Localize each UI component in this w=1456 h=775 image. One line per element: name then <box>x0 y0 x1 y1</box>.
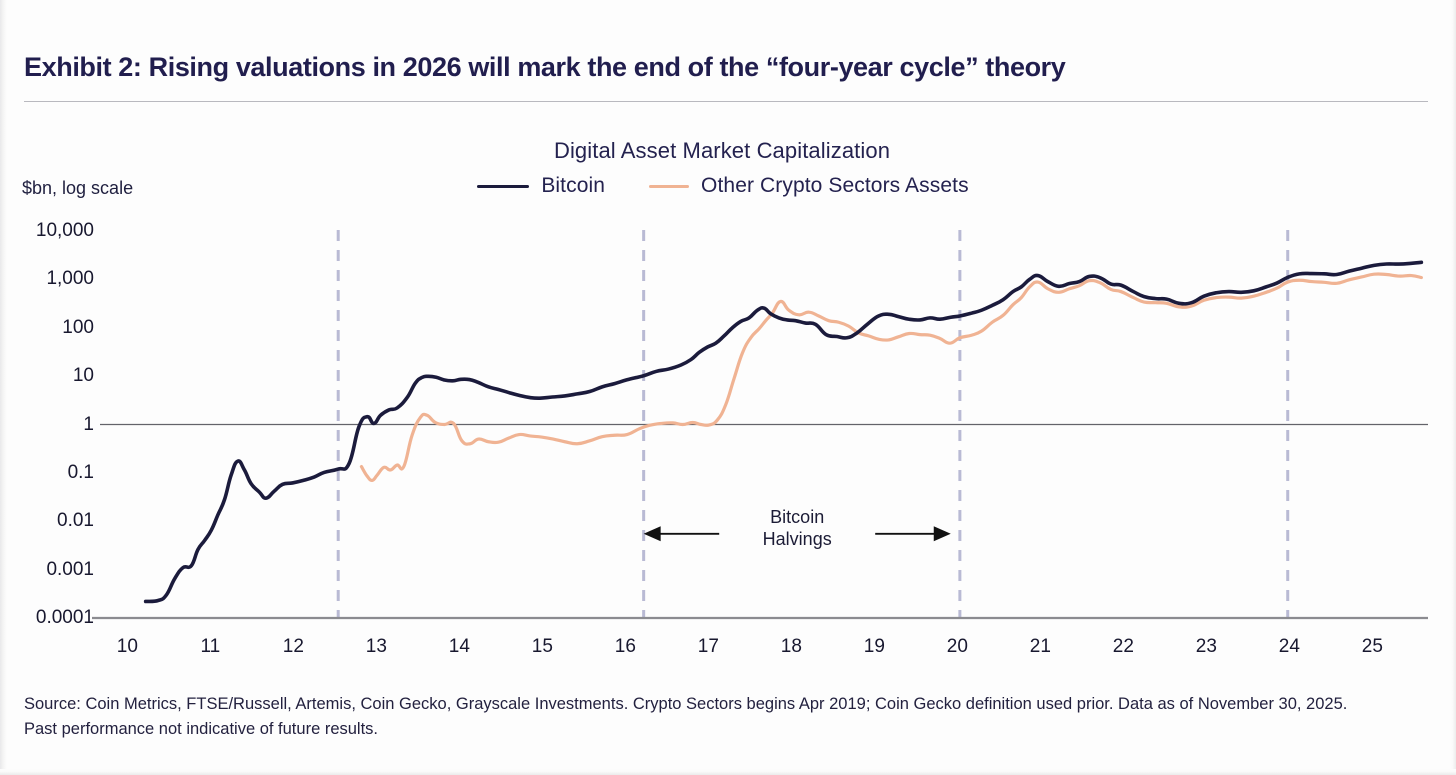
exhibit-title: Exhibit 2: Rising valuations in 2026 wil… <box>24 52 1404 83</box>
source-line-1: Source: Coin Metrics, FTSE/Russell, Arte… <box>24 692 1424 717</box>
x-axis-tick-14: 24 <box>1279 636 1300 658</box>
x-axis-tick-10: 20 <box>947 636 968 658</box>
x-axis-tick-8: 18 <box>781 636 802 658</box>
x-axis-tick-13: 23 <box>1196 636 1217 658</box>
exhibit-page: Exhibit 2: Rising valuations in 2026 wil… <box>0 0 1456 775</box>
x-axis-tick-9: 19 <box>864 636 885 658</box>
y-axis-tick-7: 0.001 <box>8 559 94 581</box>
x-axis-tick-2: 12 <box>283 636 304 658</box>
y-axis-tick-1: 1,000 <box>8 268 94 290</box>
y-axis-tick-6: 0.01 <box>8 510 94 532</box>
x-axis-tick-12: 22 <box>1113 636 1134 658</box>
series-line-bitcoin <box>146 262 1422 601</box>
source-note: Source: Coin Metrics, FTSE/Russell, Arte… <box>24 692 1424 742</box>
y-axis-tick-4: 1 <box>8 414 94 436</box>
title-divider <box>24 101 1428 102</box>
chart-title: Digital Asset Market Capitalization <box>0 138 1450 164</box>
x-axis-tick-labels: 10111213141516171819202122232425 <box>0 636 1456 662</box>
page-gutter-bottom <box>0 769 1456 775</box>
halving-annotation-line1: Bitcoin <box>763 506 832 528</box>
x-axis-tick-3: 13 <box>366 636 387 658</box>
x-axis-tick-6: 16 <box>615 636 636 658</box>
chart-axes <box>92 425 1428 619</box>
x-axis-tick-5: 15 <box>532 636 553 658</box>
y-axis-tick-5: 0.1 <box>8 462 94 484</box>
legend-label-bitcoin: Bitcoin <box>541 174 605 198</box>
source-line-2: Past performance not indicative of futur… <box>24 717 1424 742</box>
legend-swatch-other-crypto-icon <box>649 185 689 188</box>
halving-reference-lines <box>338 230 1288 618</box>
legend-item-bitcoin[interactable]: Bitcoin <box>477 174 605 198</box>
legend-swatch-bitcoin-icon <box>477 185 529 188</box>
halving-annotation-label: Bitcoin Halvings <box>763 506 832 550</box>
y-axis-tick-0: 10,000 <box>8 220 94 242</box>
x-axis-tick-4: 14 <box>449 636 470 658</box>
chart-series-lines <box>146 262 1422 601</box>
y-axis-tick-2: 100 <box>8 317 94 339</box>
x-axis-tick-11: 21 <box>1030 636 1051 658</box>
series-line-other-crypto <box>361 274 1421 480</box>
y-axis-tick-8: 0.0001 <box>8 607 94 629</box>
chart-legend: Bitcoin Other Crypto Sectors Assets <box>0 174 1451 198</box>
x-axis-tick-7: 17 <box>698 636 719 658</box>
legend-label-other-crypto: Other Crypto Sectors Assets <box>701 174 969 198</box>
x-axis-tick-1: 11 <box>201 636 221 658</box>
x-axis-tick-15: 25 <box>1362 636 1383 658</box>
x-axis-tick-0: 10 <box>117 636 138 658</box>
legend-item-other-crypto[interactable]: Other Crypto Sectors Assets <box>649 174 969 198</box>
y-axis-tick-3: 10 <box>8 365 94 387</box>
halving-annotation-line2: Halvings <box>763 528 832 550</box>
